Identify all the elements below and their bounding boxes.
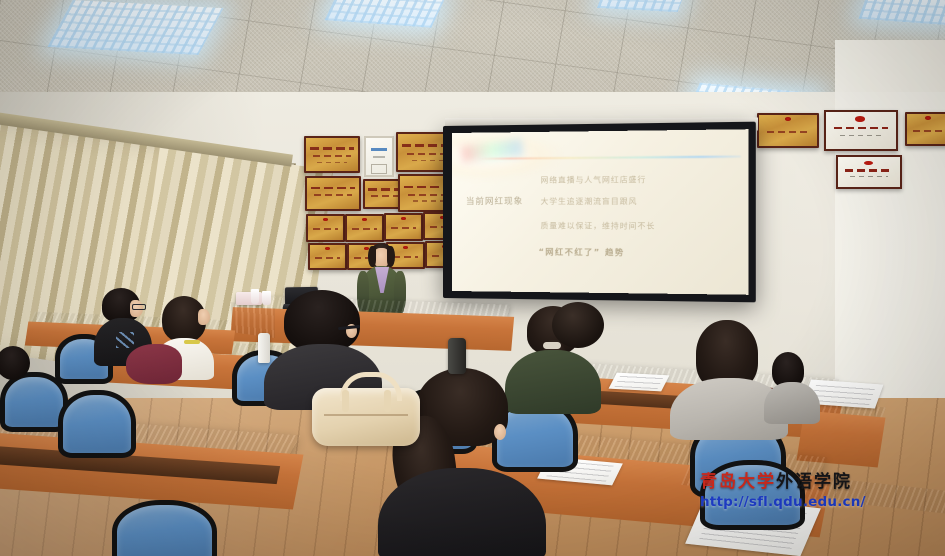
award-plaque-right bbox=[757, 113, 819, 148]
watermark: 青岛大学外语学院 http://sfl.qdu.edu.cn/ bbox=[700, 474, 940, 510]
handbag bbox=[312, 372, 420, 446]
slide-bullet-1: 网络直播与人气网红店盛行 bbox=[541, 174, 647, 186]
thermos-bottle bbox=[258, 333, 270, 363]
lanyard bbox=[184, 340, 200, 344]
chair[interactable] bbox=[112, 500, 217, 556]
watermark-college: 外语学院 bbox=[776, 472, 852, 492]
presenter-hair-side bbox=[368, 246, 376, 267]
audience-member bbox=[148, 296, 218, 380]
ceiling-light-panel bbox=[47, 0, 223, 55]
audience-member bbox=[538, 300, 618, 384]
thermos-bottle bbox=[448, 338, 466, 374]
slide-emphasis: “网红不红了” 趋势 bbox=[539, 246, 625, 258]
watermark-university: 青岛大学 bbox=[700, 472, 776, 492]
award-plaque bbox=[345, 214, 384, 242]
classroom-photo: 当前网红现象 网络直播与人气网红店盛行 大学生追逐潮流盲目跟风 质量难以保证，维… bbox=[0, 0, 945, 556]
watermark-institution: 青岛大学外语学院 bbox=[700, 474, 940, 491]
hair bbox=[284, 290, 360, 352]
presenter-hair-side bbox=[387, 246, 395, 267]
award-plaque bbox=[304, 136, 360, 173]
slide-bullet-2: 大学生追逐潮流盲目跟风 bbox=[541, 196, 638, 207]
paper-cup bbox=[251, 289, 259, 304]
ear bbox=[494, 424, 506, 440]
honor-plaque-wuxi-hongqi bbox=[824, 110, 898, 151]
audience-member bbox=[0, 346, 38, 408]
torso-grey bbox=[764, 382, 820, 424]
award-plaque bbox=[305, 176, 361, 211]
award-plaque bbox=[384, 213, 423, 241]
face-profile bbox=[198, 309, 210, 325]
projection-screen[interactable]: 当前网红现象 网络直播与人气网红店盛行 大学生追逐潮流盲目跟风 质量难以保证，维… bbox=[452, 129, 748, 295]
handbag-strap bbox=[384, 390, 391, 412]
watermark-url: http://sfl.qdu.edu.cn/ bbox=[700, 494, 940, 510]
certificate-frame bbox=[364, 136, 394, 177]
glasses-icon bbox=[132, 304, 146, 310]
handbag-handle bbox=[340, 372, 402, 401]
handbag-strap bbox=[342, 390, 349, 412]
award-plaque bbox=[308, 243, 347, 270]
handbag-seam bbox=[324, 414, 408, 416]
hair-curly bbox=[552, 302, 604, 348]
honor-plaque-branch bbox=[836, 155, 902, 189]
hair bbox=[0, 346, 30, 380]
chair[interactable] bbox=[58, 390, 136, 458]
maroon-sweater-on-chair bbox=[126, 344, 182, 384]
slide-heading: 当前网红现象 bbox=[466, 195, 523, 207]
audience-member bbox=[772, 352, 816, 422]
award-plaque bbox=[306, 214, 345, 242]
jacket-print bbox=[116, 332, 134, 348]
award-plaque-right bbox=[905, 112, 945, 146]
slide-bullet-3: 质量难以保证，维持时间不长 bbox=[541, 220, 656, 232]
